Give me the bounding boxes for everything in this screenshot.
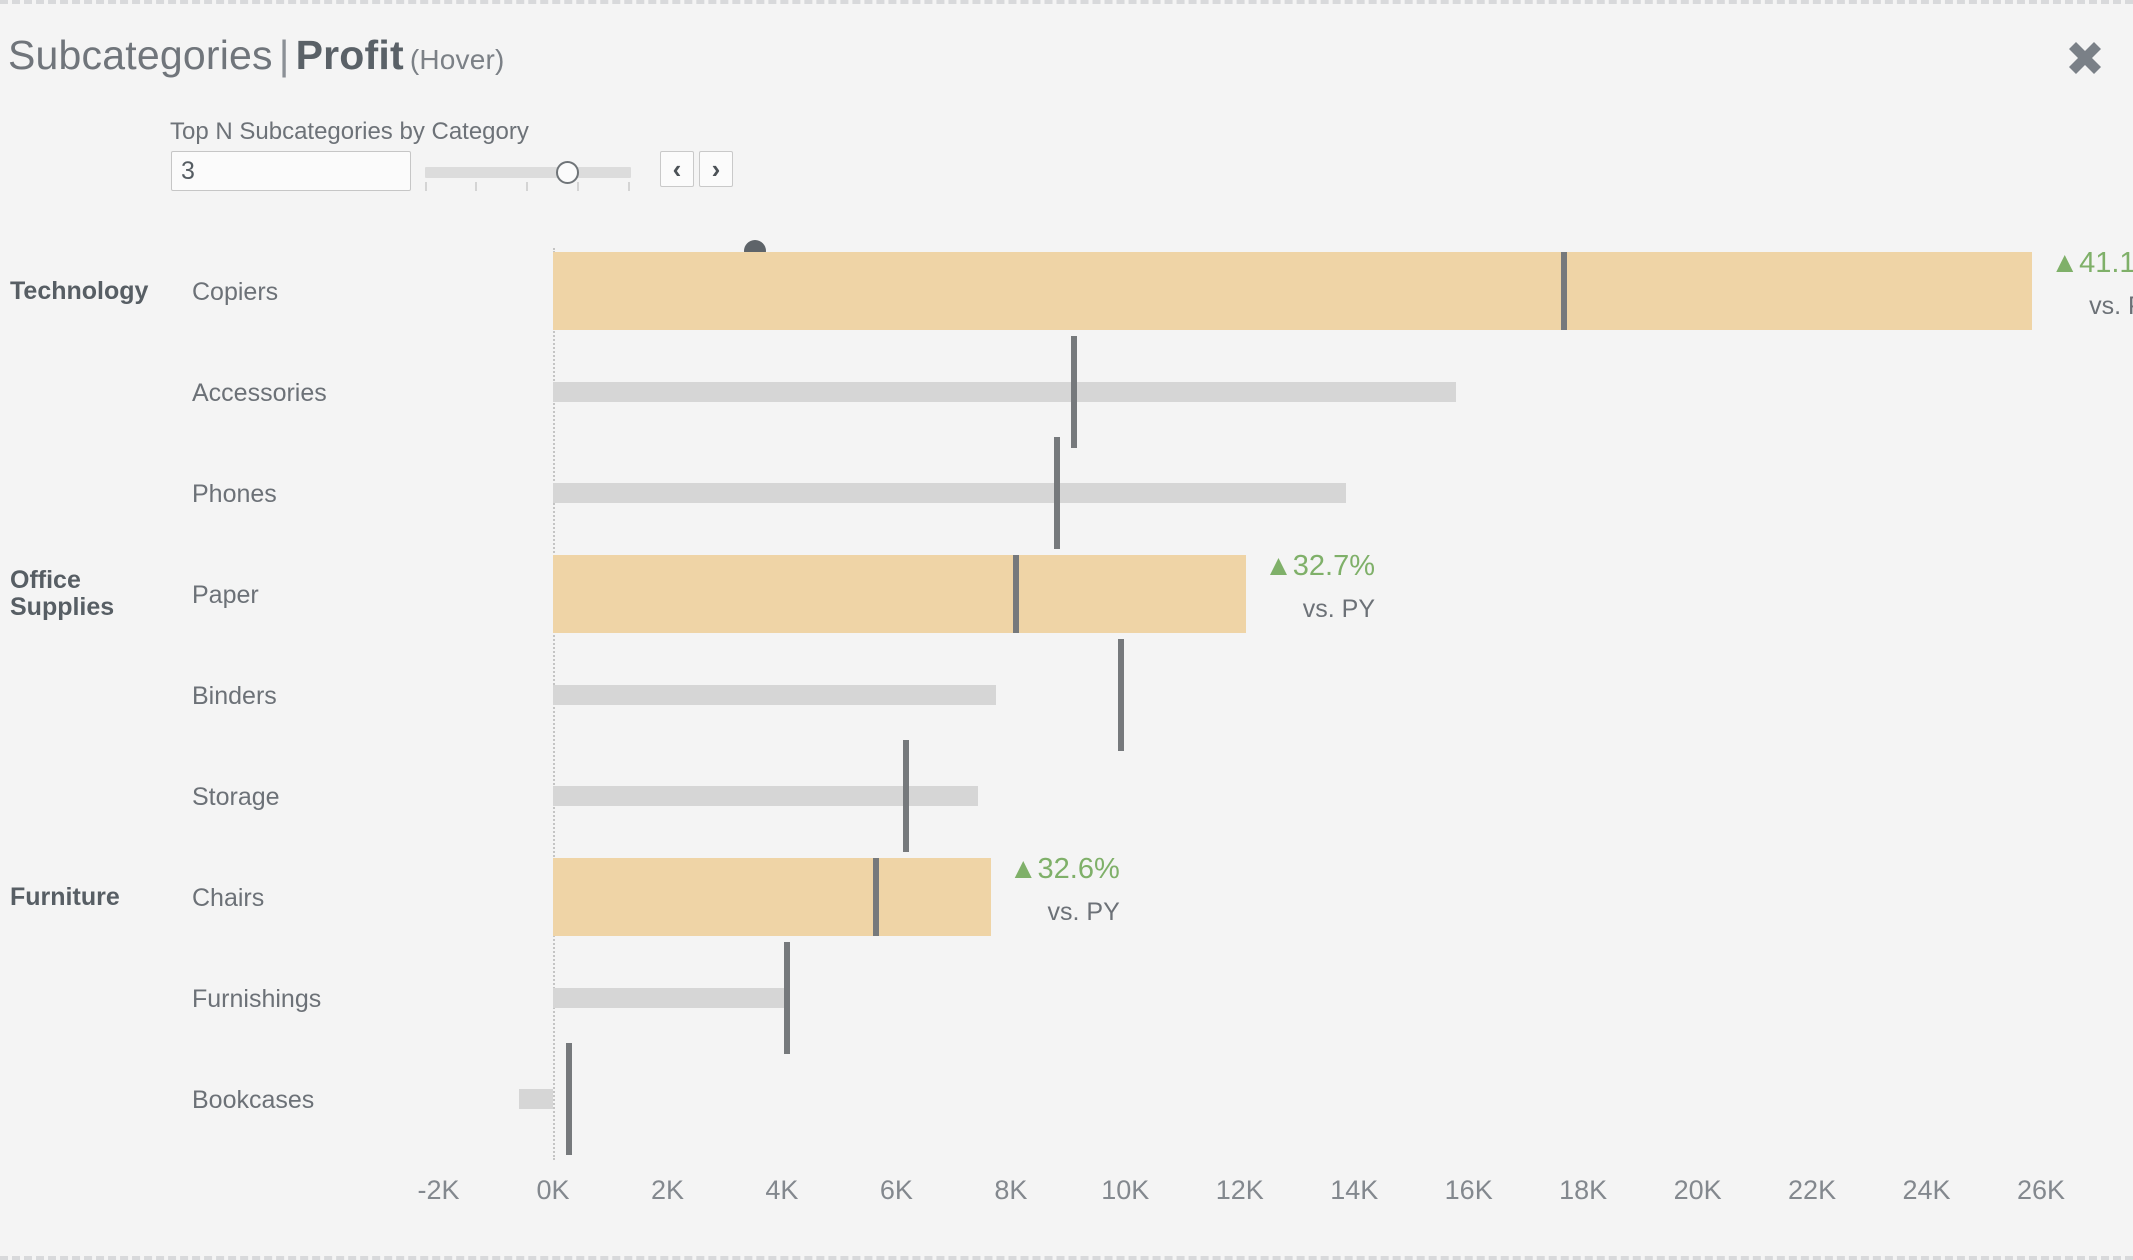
value-bar[interactable] xyxy=(553,382,1456,402)
next-button[interactable]: › xyxy=(699,151,733,187)
reference-tick xyxy=(1561,252,1567,330)
x-axis: -2K0K2K4K6K8K10K12K14K16K18K20K22K24K26K xyxy=(0,1175,2133,1225)
page-title-suffix: (Hover) xyxy=(404,44,505,75)
page-title: Subcategories|Profit(Hover) xyxy=(8,32,505,79)
reference-tick xyxy=(1054,437,1060,549)
reference-tick xyxy=(566,1043,572,1155)
delta-value: ▲32.7% xyxy=(1264,550,1375,582)
topn-label: Top N Subcategories by Category xyxy=(170,118,529,146)
axis-tick-label: 24K xyxy=(1903,1175,1951,1206)
axis-tick-label: 4K xyxy=(765,1175,798,1206)
controls-bar: Top N Subcategories by Category ‹ › ±$ #… xyxy=(0,118,2133,196)
delta-label: ▲32.7%vs. PY xyxy=(1264,550,1375,624)
value-bar[interactable] xyxy=(553,858,991,936)
axis-tick-label: -2K xyxy=(418,1175,460,1206)
delta-label: ▲41.1%vs. PY xyxy=(2050,247,2133,321)
chart-row[interactable]: Accessories xyxy=(0,341,2133,442)
subcategory-label: Phones xyxy=(192,480,277,509)
axis-tick-label: 18K xyxy=(1559,1175,1607,1206)
subcategory-label: Bookcases xyxy=(192,1086,314,1115)
chart-row[interactable]: Office SuppliesPaper▲32.7%vs. PY xyxy=(0,543,2133,644)
slider-handle[interactable] xyxy=(556,161,579,184)
close-icon[interactable] xyxy=(2057,30,2113,86)
axis-tick-label: 6K xyxy=(880,1175,913,1206)
delta-value: ▲32.6% xyxy=(1009,853,1120,885)
axis-tick-label: 0K xyxy=(536,1175,569,1206)
reference-tick xyxy=(903,740,909,852)
reference-tick xyxy=(1118,639,1124,751)
value-bar[interactable] xyxy=(553,786,978,806)
axis-tick-label: 20K xyxy=(1674,1175,1722,1206)
axis-tick-label: 2K xyxy=(651,1175,684,1206)
delta-comparison: vs. PY xyxy=(1009,898,1120,927)
bullet-chart: TechnologyCopiers▲41.1%vs. PYAccessories… xyxy=(0,240,2133,1260)
page-title-light: Subcategories xyxy=(8,32,273,78)
axis-tick-label: 26K xyxy=(2017,1175,2065,1206)
chart-row[interactable]: Phones xyxy=(0,442,2133,543)
chart-row[interactable]: Binders xyxy=(0,644,2133,745)
page-title-bold: Profit xyxy=(296,32,404,78)
axis-tick-label: 10K xyxy=(1101,1175,1149,1206)
chart-row[interactable]: Furnishings xyxy=(0,947,2133,1048)
delta-label: ▲32.6%vs. PY xyxy=(1009,853,1120,927)
value-bar[interactable] xyxy=(553,252,2032,330)
topn-input[interactable] xyxy=(171,151,411,191)
slider-ticks xyxy=(425,182,631,191)
chart-row[interactable]: Storage xyxy=(0,745,2133,846)
reference-tick xyxy=(1013,555,1019,633)
subcategory-label: Chairs xyxy=(192,884,264,913)
subcategory-label: Paper xyxy=(192,581,259,610)
category-label: Office Supplies xyxy=(10,567,185,621)
topn-slider[interactable] xyxy=(425,153,631,191)
chart-row[interactable]: TechnologyCopiers▲41.1%vs. PY xyxy=(0,240,2133,341)
axis-tick-label: 8K xyxy=(994,1175,1027,1206)
delta-comparison: vs. PY xyxy=(1264,595,1375,624)
subcategory-label: Furnishings xyxy=(192,985,321,1014)
axis-tick-label: 16K xyxy=(1445,1175,1493,1206)
value-bar[interactable] xyxy=(553,685,996,705)
subcategory-label: Accessories xyxy=(192,379,327,408)
reference-tick xyxy=(1071,336,1077,448)
value-bar[interactable] xyxy=(553,988,784,1008)
value-bar[interactable] xyxy=(553,555,1246,633)
subcategory-label: Binders xyxy=(192,682,277,711)
subcategory-label: Storage xyxy=(192,783,280,812)
reference-tick xyxy=(784,942,790,1054)
prev-button[interactable]: ‹ xyxy=(660,151,694,187)
delta-value: ▲41.1% xyxy=(2050,247,2133,279)
category-label: Technology xyxy=(10,278,185,305)
header: Subcategories|Profit(Hover) xyxy=(0,14,2133,84)
axis-tick-label: 14K xyxy=(1330,1175,1378,1206)
category-label: Furniture xyxy=(10,884,185,911)
axis-tick-label: 12K xyxy=(1216,1175,1264,1206)
delta-comparison: vs. PY xyxy=(2050,292,2133,321)
value-bar[interactable] xyxy=(519,1089,553,1109)
chart-row[interactable]: Bookcases xyxy=(0,1048,2133,1149)
reference-tick xyxy=(873,858,879,936)
slider-track[interactable] xyxy=(425,167,631,178)
axis-tick-label: 22K xyxy=(1788,1175,1836,1206)
chart-row[interactable]: FurnitureChairs▲32.6%vs. PY xyxy=(0,846,2133,947)
value-bar[interactable] xyxy=(553,483,1346,503)
page-title-separator: | xyxy=(273,32,296,78)
subcategory-label: Copiers xyxy=(192,278,278,307)
